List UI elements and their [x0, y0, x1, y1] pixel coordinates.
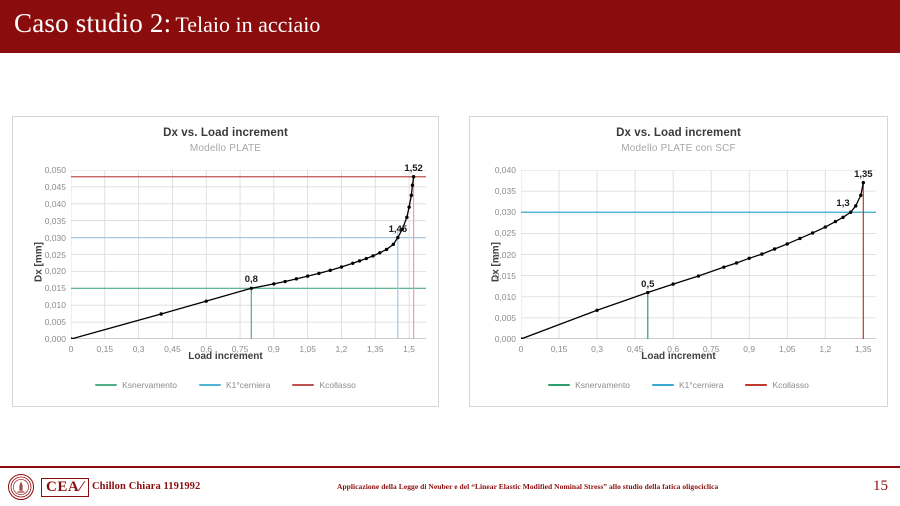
- line-swatch-icon: [292, 384, 314, 386]
- data-point: [859, 194, 862, 197]
- data-point: [405, 216, 408, 219]
- university-seal-icon: [8, 474, 34, 500]
- y-tick-label: 0,020: [495, 250, 516, 260]
- data-point: [595, 309, 598, 312]
- page-title: Caso studio 2: Telaio in acciaio: [14, 8, 320, 39]
- x-tick-label: 1,5: [403, 344, 415, 354]
- x-tick-label: 0,75: [232, 344, 249, 354]
- data-label: 1,3: [836, 198, 849, 209]
- x-tick-label: 0,3: [133, 344, 145, 354]
- chart-title: Dx vs. Load increment: [13, 127, 438, 139]
- data-point: [862, 181, 865, 184]
- data-point: [735, 261, 738, 264]
- data-point: [71, 337, 73, 339]
- chart-canvas: [71, 170, 426, 339]
- x-tick-label: 0: [69, 344, 74, 354]
- slide-header-band: Caso studio 2: Telaio in acciaio: [0, 0, 900, 53]
- legend-label: Kcollasso: [772, 380, 808, 390]
- y-tick-label: 0,010: [45, 300, 66, 310]
- legend-label: Kcollasso: [319, 380, 355, 390]
- y-tick-label: 0,015: [495, 271, 516, 281]
- data-point: [798, 237, 801, 240]
- x-tick-label: 0,3: [591, 344, 603, 354]
- legend-item-kcollasso[interactable]: Kcollasso: [745, 380, 808, 390]
- data-point: [340, 265, 343, 268]
- data-label: 1,45: [389, 224, 408, 235]
- legend-label: K1°cerniera: [679, 380, 724, 390]
- data-point: [410, 194, 413, 197]
- data-point: [392, 243, 395, 246]
- data-point: [283, 280, 286, 283]
- y-tick-label: 0,010: [495, 292, 516, 302]
- x-tick-label: 0,9: [268, 344, 280, 354]
- x-tick-label: 0,45: [164, 344, 181, 354]
- y-tick-label: 0,040: [45, 199, 66, 209]
- data-point: [841, 216, 844, 219]
- chart-subtitle: Modello PLATE: [13, 143, 438, 154]
- data-point: [329, 269, 332, 272]
- x-tick-label: 1,2: [819, 344, 831, 354]
- series-line: [521, 183, 863, 339]
- line-swatch-icon: [745, 384, 767, 386]
- data-point: [159, 312, 162, 315]
- data-point: [646, 291, 649, 294]
- data-point: [671, 282, 674, 285]
- data-point: [786, 242, 789, 245]
- chart-title-text: Dx vs. Load increment: [163, 127, 288, 139]
- data-point: [824, 225, 827, 228]
- legend-item-k1cerniera[interactable]: K1°cerniera: [652, 380, 724, 390]
- series-line: [71, 177, 414, 339]
- chart-title-text: Dx vs. Load increment: [616, 127, 741, 139]
- x-tick-label: 1,05: [299, 344, 316, 354]
- line-swatch-icon: [652, 384, 674, 386]
- data-point: [834, 220, 837, 223]
- y-tick-label: 0,045: [45, 182, 66, 192]
- data-point: [722, 265, 725, 268]
- y-tick-label: 0,025: [45, 250, 66, 260]
- chart-card-plate[interactable]: Dx vs. Load increment Modello PLATE Dx […: [12, 116, 439, 407]
- data-point: [317, 272, 320, 275]
- y-tick-label: 0,035: [45, 216, 66, 226]
- icea-logo: CEA/: [41, 478, 89, 497]
- data-point: [849, 211, 852, 214]
- x-tick-label: 0,15: [551, 344, 568, 354]
- data-point: [365, 257, 368, 260]
- y-tick-label: 0,000: [45, 334, 66, 344]
- page-title-main: Caso studio 2:: [14, 8, 171, 38]
- data-point: [385, 248, 388, 251]
- line-swatch-icon: [548, 384, 570, 386]
- x-tick-label: 0,45: [627, 344, 644, 354]
- legend-item-ksnervamento[interactable]: Ksnervamento: [95, 380, 177, 390]
- icea-logo-text: CEA: [46, 479, 79, 495]
- data-point: [412, 175, 415, 178]
- x-tick-label: 0,6: [200, 344, 212, 354]
- legend-item-ksnervamento[interactable]: Ksnervamento: [548, 380, 630, 390]
- data-point: [760, 252, 763, 255]
- data-label: 1,52: [404, 163, 423, 174]
- legend-item-k1cerniera[interactable]: K1°cerniera: [199, 380, 271, 390]
- x-tick-label: 0: [519, 344, 524, 354]
- data-point: [378, 251, 381, 254]
- y-tick-label: 0,015: [45, 283, 66, 293]
- line-swatch-icon: [95, 384, 117, 386]
- data-point: [773, 247, 776, 250]
- y-tick-label: 0,035: [495, 186, 516, 196]
- data-point: [272, 282, 275, 285]
- data-point: [306, 274, 309, 277]
- x-tick-label: 0,15: [97, 344, 114, 354]
- x-tick-label: 1,2: [336, 344, 348, 354]
- y-tick-label: 0,040: [495, 165, 516, 175]
- x-tick-label: 1,35: [367, 344, 384, 354]
- plot-area: 0,0000,0050,0100,0150,0200,0250,0300,035…: [71, 170, 426, 339]
- line-swatch-icon: [199, 384, 221, 386]
- data-label: 0,8: [245, 274, 258, 285]
- data-point: [748, 257, 751, 260]
- chart-subtitle: Modello PLATE con SCF: [470, 143, 887, 154]
- chart-legend: Ksnervamento K1°cerniera Kcollasso: [13, 380, 438, 390]
- footer-author: Chillon Chiara 1191992: [92, 481, 200, 492]
- data-point: [396, 236, 399, 239]
- legend-label: Ksnervamento: [575, 380, 630, 390]
- footer-page-number: 15: [873, 478, 888, 495]
- slide-footer: CEA/ Chillon Chiara 1191992 Applicazione…: [0, 468, 900, 506]
- page-title-sub: Telaio in acciaio: [175, 12, 320, 37]
- data-point: [205, 299, 208, 302]
- y-tick-label: 0,000: [495, 334, 516, 344]
- data-point: [358, 259, 361, 262]
- y-tick-label: 0,030: [495, 207, 516, 217]
- x-tick-label: 0,6: [667, 344, 679, 354]
- data-point: [854, 204, 857, 207]
- y-tick-label: 0,050: [45, 165, 66, 175]
- y-tick-label: 0,025: [495, 228, 516, 238]
- chart-card-plate-scf[interactable]: Dx vs. Load increment Modello PLATE con …: [469, 116, 888, 407]
- data-point: [407, 205, 410, 208]
- legend-label: K1°cerniera: [226, 380, 271, 390]
- chart-canvas: [521, 170, 876, 339]
- chart-title: Dx vs. Load increment: [470, 127, 887, 139]
- footer-subject: Applicazione della Legge di Neuber e del…: [337, 482, 718, 491]
- data-point: [411, 184, 414, 187]
- data-point: [371, 254, 374, 257]
- x-tick-label: 0,9: [743, 344, 755, 354]
- x-tick-label: 0,75: [703, 344, 720, 354]
- chart-legend: Ksnervamento K1°cerniera Kcollasso: [470, 380, 887, 390]
- legend-item-kcollasso[interactable]: Kcollasso: [292, 380, 355, 390]
- data-point: [697, 274, 700, 277]
- y-tick-label: 0,020: [45, 266, 66, 276]
- data-point: [521, 337, 523, 339]
- x-tick-label: 1,05: [779, 344, 796, 354]
- y-axis-label: Dx [mm]: [34, 241, 45, 281]
- data-point: [811, 231, 814, 234]
- y-tick-label: 0,030: [45, 233, 66, 243]
- data-point: [295, 277, 298, 280]
- legend-label: Ksnervamento: [122, 380, 177, 390]
- plot-area: 0,0000,0050,0100,0150,0200,0250,0300,035…: [521, 170, 876, 339]
- y-tick-label: 0,005: [45, 317, 66, 327]
- data-point: [250, 287, 253, 290]
- y-tick-label: 0,005: [495, 313, 516, 323]
- data-label: 0,5: [641, 279, 654, 290]
- x-tick-label: 1,35: [855, 344, 872, 354]
- data-label: 1,35: [854, 169, 873, 180]
- data-point: [351, 262, 354, 265]
